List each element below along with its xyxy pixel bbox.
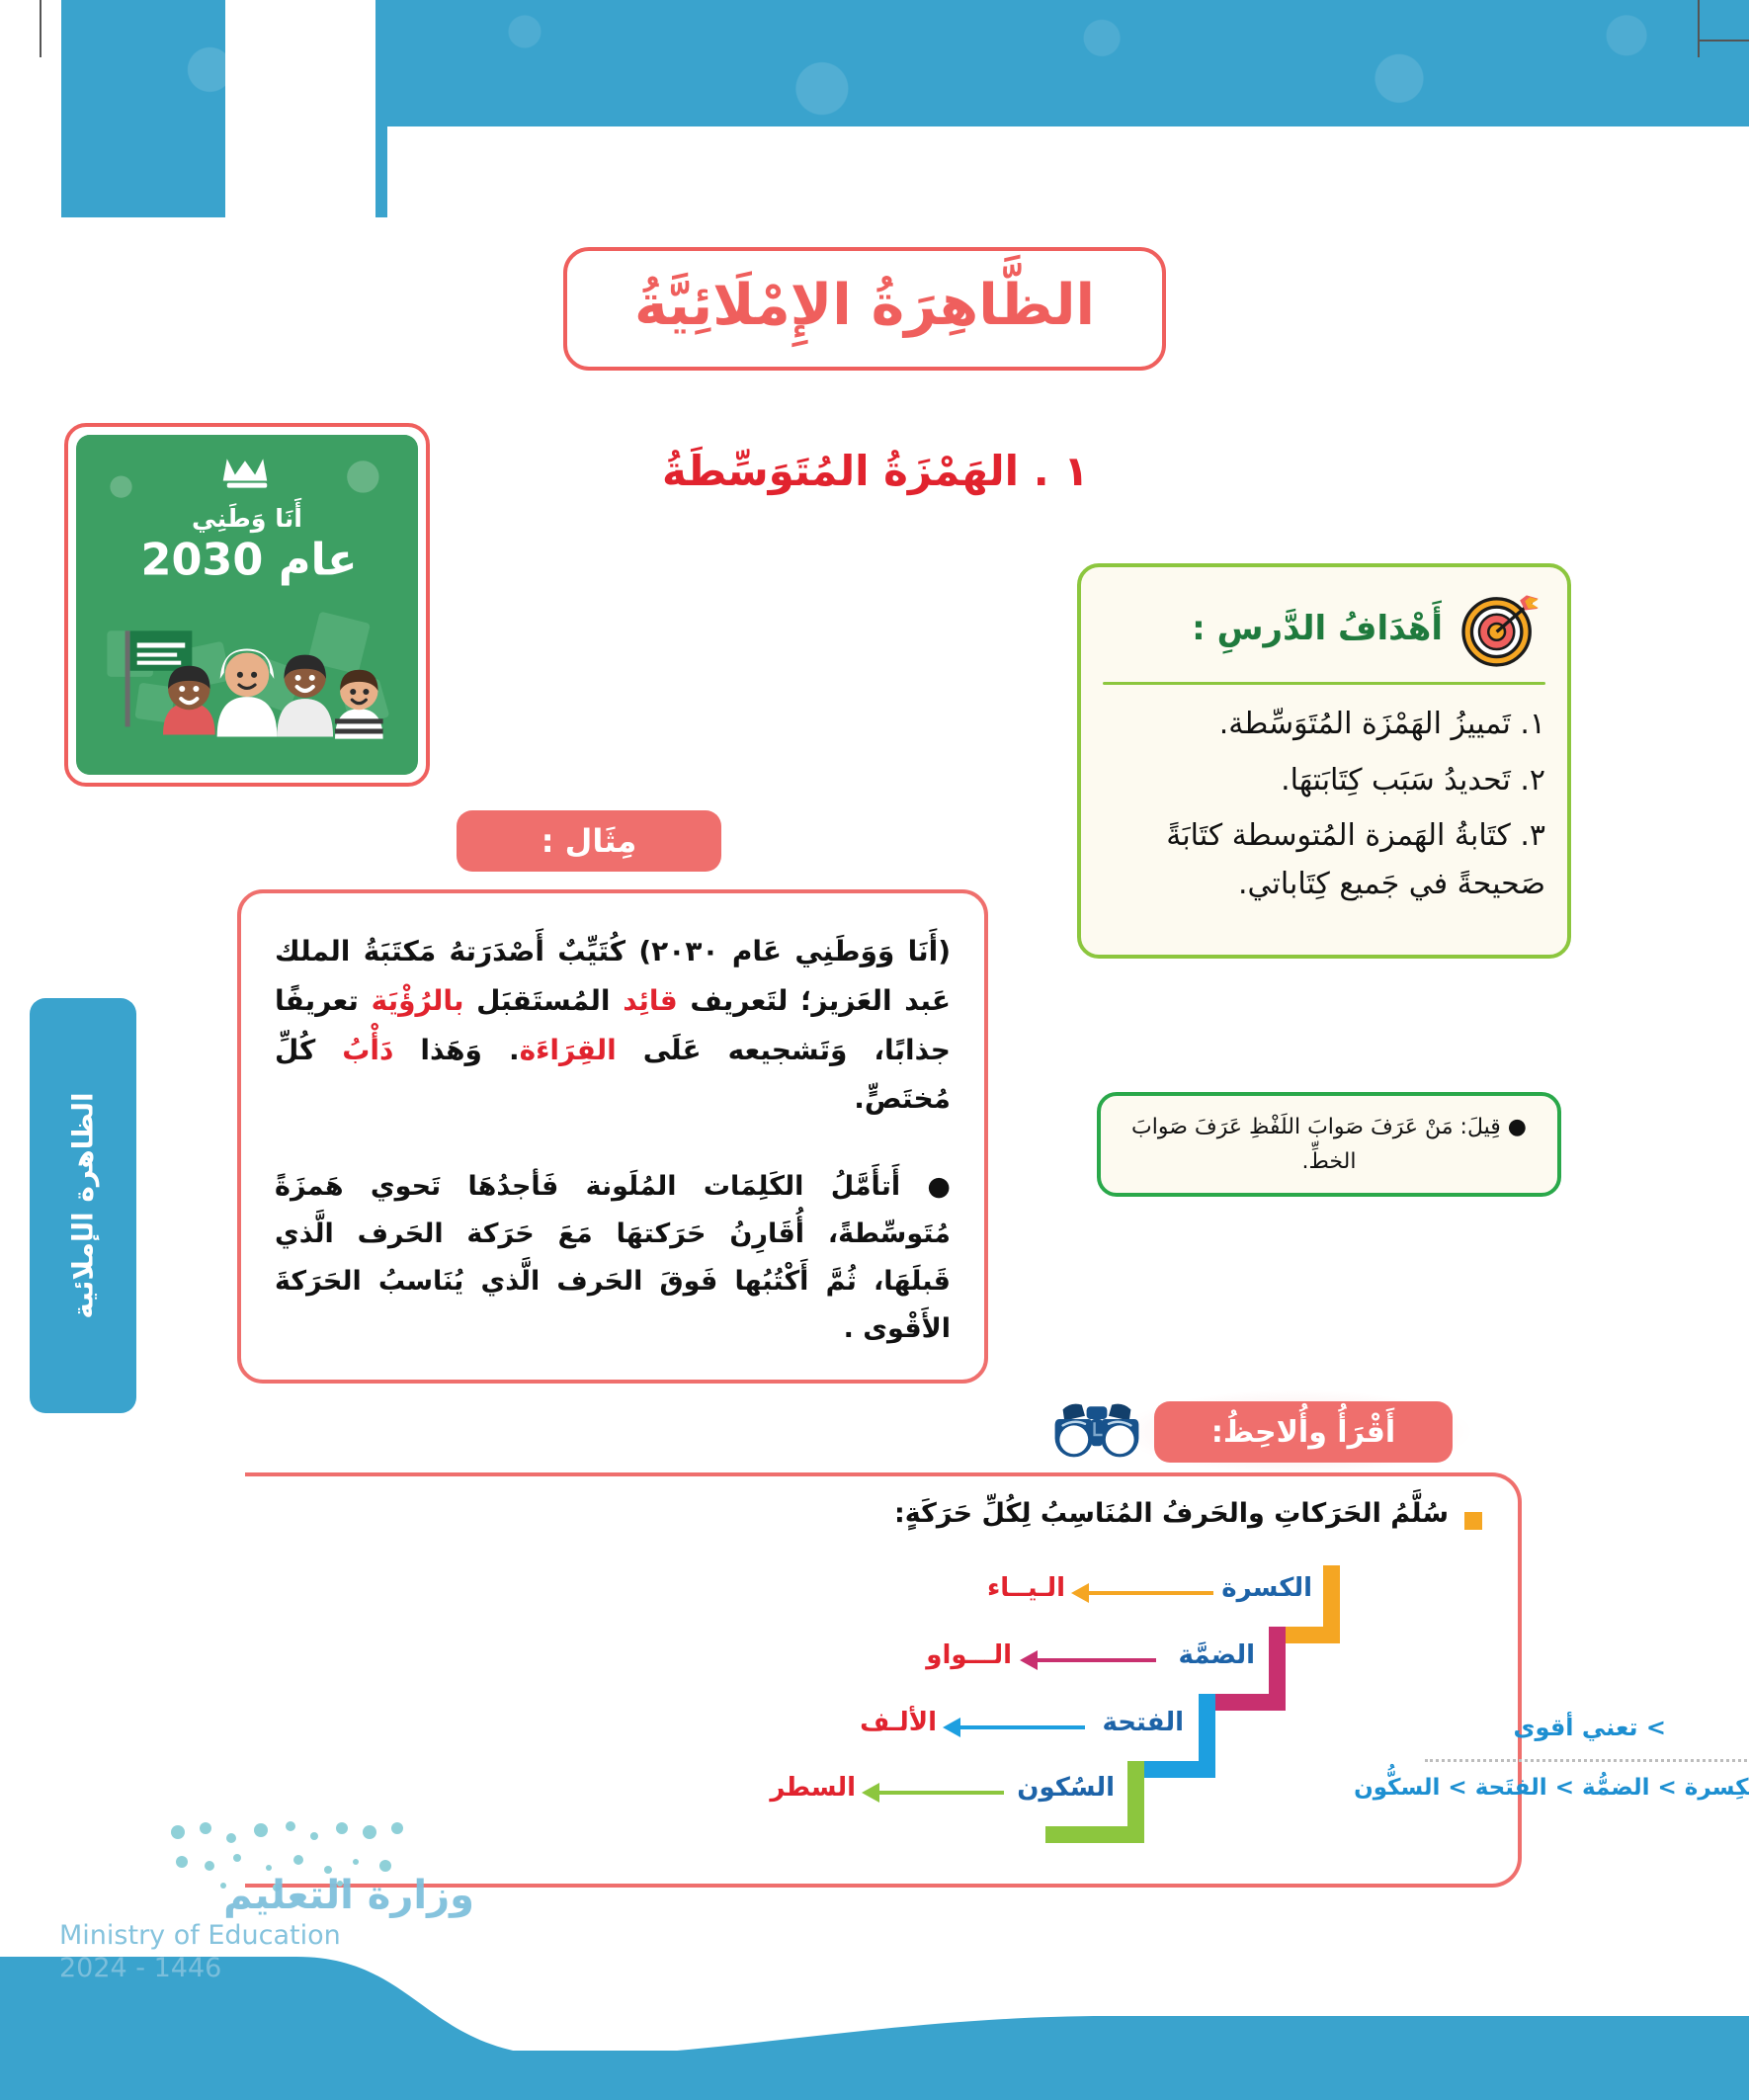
- label-satr: السطر: [770, 1773, 856, 1803]
- label-sukoon: السُكون: [1017, 1773, 1115, 1803]
- objectives-title: أَهْدَافُ الدَّرسِ :: [1192, 609, 1443, 648]
- cover-illustration: أَنَا وَطَنِي عام 2030: [64, 423, 430, 787]
- highlight-word-qiraa: القِرَاءَة: [520, 1034, 617, 1066]
- ministry-year: 2024 - 1446: [59, 1953, 474, 1983]
- label-fatha: الفتحة: [1102, 1708, 1184, 1737]
- page-title: الظَّاهِرَةُ الإِمْلَائِيَّةُ: [563, 247, 1166, 371]
- objective-item: ٢. تَحديدُ سَبَب كِتَابَتهَا.: [1103, 757, 1545, 805]
- crop-mark-top-right: [1698, 0, 1700, 57]
- crop-mark-top-right-h: [1698, 40, 1749, 42]
- objective-item: ٣. كتَابةُ الهَمزة المُتوسطة كتَابَةً صَ…: [1103, 812, 1545, 908]
- page-title-text: الظَّاهِرَةُ الإِمْلَائِيَّةُ: [634, 277, 1095, 342]
- label-kasra: الكسرة: [1221, 1573, 1312, 1603]
- crop-mark-bottom-right: [1698, 2036, 1700, 2093]
- side-tab-label: الظاهرة الإملائية: [67, 1092, 100, 1318]
- highlight-word-dab: دَأْبُ: [342, 1034, 393, 1066]
- highlight-word-qaed: قائِد: [623, 984, 678, 1017]
- label-alef: الألـف: [860, 1708, 937, 1737]
- note-order: الكِسرة > الضمُّة > الفتَحة > السكُّون: [1354, 1775, 1749, 1801]
- objectives-list: ١. تَمييزُ الهَمْزَة المُتَوَسِّطة. ٢. ت…: [1103, 701, 1545, 908]
- label-damma: الضمَّة: [1179, 1640, 1256, 1670]
- bullet-square-icon: [1464, 1512, 1482, 1530]
- step-riser-fatha: [1199, 1694, 1215, 1765]
- target-icon: [1458, 587, 1541, 670]
- arrow-kasra-to-ya: [1087, 1591, 1213, 1595]
- observe-label-pill: أَقْرَأُ وأُلاحِظُ:: [1154, 1401, 1453, 1463]
- arrow-damma-to-waw: [1036, 1658, 1156, 1662]
- vowel-ladder-diagram: الكسرة الـيــاء الضمَّة الـــواو الفتحة …: [174, 1565, 1340, 1862]
- crop-mark-top-left: [40, 0, 42, 57]
- svg-text:عام 2030: عام 2030: [140, 536, 357, 586]
- label-waw: الـــواو: [926, 1640, 1012, 1670]
- binoculars-icon: [1045, 1395, 1148, 1467]
- textbook-page: رابط الدرس الرقمي: [0, 0, 1749, 2100]
- objectives-header: أَهْدَافُ الدَّرسِ :: [1103, 581, 1545, 680]
- label-ya: الـيــاء: [987, 1573, 1065, 1603]
- objectives-box: أَهْدَافُ الدَّرسِ : ١. تَمييزُ الهَمْزَ…: [1077, 563, 1571, 959]
- example-seg: المُستَقبَل: [463, 984, 623, 1017]
- arrow-fatha-to-alef: [958, 1725, 1085, 1729]
- observe-label-text: أَقْرَأُ وأُلاحِظُ:: [1211, 1415, 1395, 1450]
- example-label-pill: مِثَال :: [457, 810, 721, 872]
- example-box: (أَنَا وَوَطَنِي عَام ٢٠٣٠) كُتَيِّبٌ أَ…: [237, 889, 988, 1384]
- arrow-sukoon-to-satr: [877, 1791, 1004, 1795]
- objective-item: ١. تَمييزُ الهَمْزَة المُتَوَسِّطة.: [1103, 701, 1545, 749]
- left-white-margin: [0, 0, 61, 217]
- highlight-word-biruya: بالرُؤْيَة: [372, 984, 464, 1017]
- example-seg: . وَهَذا: [393, 1034, 519, 1066]
- example-bullet-paragraph: ● أَتأَمَّلُ الكَلِمَات المُلَونة فَأجدُ…: [275, 1163, 951, 1353]
- crop-mark-bottom-left: [40, 2036, 42, 2093]
- qr-card: [225, 0, 375, 285]
- lesson-heading: ١ . الهَمْزَةُ المُتَوَسِّطَةُ: [662, 447, 1097, 495]
- observe-bullet-text: سُلَّمُ الحَرَكاتِ والحَرفُ المُنَاسِبُ …: [894, 1498, 1449, 1529]
- side-tab: الظاهرة الإملائية: [30, 998, 136, 1413]
- example-paragraph: (أَنَا وَوَطَنِي عَام ٢٠٣٠) كُتَيِّبٌ أَ…: [275, 927, 951, 1124]
- observe-bullet-heading: سُلَّمُ الحَرَكاتِ والحَرفُ المُنَاسِبُ …: [894, 1498, 1482, 1530]
- step-tread-sukoon: [1045, 1826, 1144, 1843]
- observe-panel: سُلَّمُ الحَرَكاتِ والحَرفُ المُنَاسِبُ …: [237, 1472, 1522, 1888]
- quote-text: ● قِيلَ: مَنْ عَرَفَ صَوابَ اللَفْظِ عَر…: [1121, 1110, 1538, 1179]
- note-stronger: > تعني أقوى: [1514, 1714, 1666, 1741]
- note-divider: [1425, 1759, 1749, 1762]
- quote-box: ● قِيلَ: مَنْ عَرَفَ صَوابَ اللَفْظِ عَر…: [1097, 1092, 1561, 1197]
- step-riser-sukoon: [1127, 1761, 1144, 1830]
- example-label-text: مِثَال :: [541, 822, 637, 860]
- step-riser-kasra: [1323, 1565, 1340, 1631]
- page-number: ٥٣: [104, 1873, 252, 1932]
- step-riser-damma: [1269, 1627, 1286, 1698]
- objectives-divider: [1103, 682, 1545, 685]
